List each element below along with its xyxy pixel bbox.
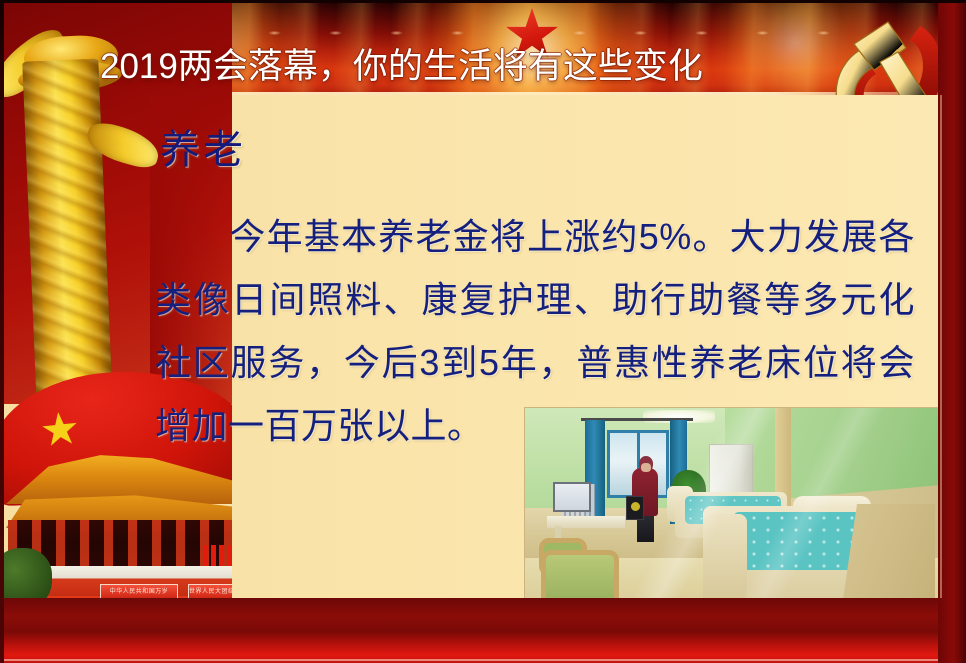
right-red-edge — [938, 0, 966, 663]
photo-bed-2-footboard — [703, 514, 747, 608]
photo-bag-emblem — [631, 502, 640, 511]
right-edge-highlight — [940, 95, 942, 598]
photo-monitor — [553, 482, 591, 512]
tiananmen-banner-right-text: 世界人民大团结万岁 — [189, 585, 232, 599]
slide-title: 2019两会落幕，你的生活将有这些变化 — [100, 47, 703, 87]
top-dark-edge — [0, 0, 966, 3]
bottom-red-band — [0, 598, 966, 663]
bottom-hairline — [0, 659, 966, 661]
photo-person-face — [641, 463, 651, 472]
presentation-slide: 中华人民共和国万岁 世界人民大团结万岁 2019两会落幕，你的生活将有这些变化 … — [0, 0, 966, 663]
section-heading: 养老 — [160, 126, 246, 174]
left-dark-edge — [0, 0, 4, 663]
small-red-flags-icon — [203, 545, 232, 567]
tiananmen-banner-left-text: 中华人民共和国万岁 — [101, 585, 177, 599]
